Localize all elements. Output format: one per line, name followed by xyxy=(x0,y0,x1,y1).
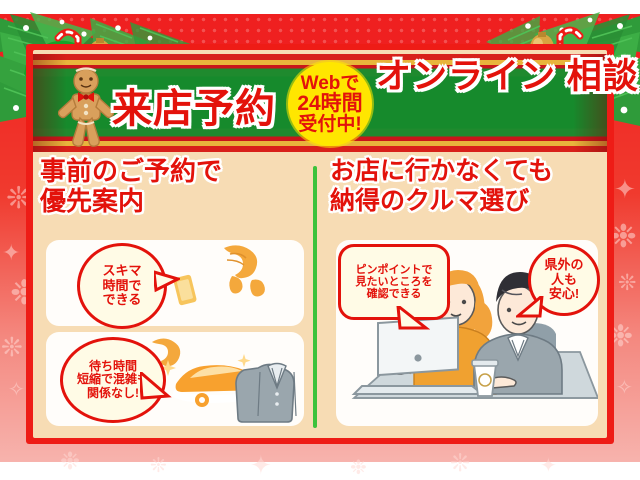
heading-online-consultation: お店に行かなくても 納得のクルマ選び xyxy=(330,156,602,216)
bubble-right-1-tail xyxy=(396,306,430,340)
heading-visit-reservation: 事前のご予約で 優先案内 xyxy=(40,156,312,216)
badge-line-3: 受付中! xyxy=(298,115,361,134)
bubble-left-1-tail xyxy=(154,270,180,296)
business-suit-icon xyxy=(236,364,296,423)
christmas-promo-banner: ❊ ✦ ❉ ❊ ✧ ✦ ❉ ❊ ❉ ✧ ❉ ❊ ✦ ❉ ❊ ✦ xyxy=(0,0,640,480)
bubble-right-2-tail xyxy=(516,296,546,326)
badge-line-2: 24時間 xyxy=(297,93,362,114)
web-24h-badge: Webで 24時間 受付中! xyxy=(288,62,372,146)
badge-line-1: Webで xyxy=(301,74,360,93)
gingerbread-man-icon xyxy=(58,66,114,150)
ribbon-title-left: 来店予約 xyxy=(112,76,276,134)
bubble-right-1: ピンポイントで 見たいところを 確認できる xyxy=(338,244,450,320)
column-divider xyxy=(313,166,317,428)
pointing-hand-icon xyxy=(224,245,265,296)
ribbon-title-right: オンライン 相談 xyxy=(376,58,556,96)
bubble-left-2-tail xyxy=(140,372,172,412)
